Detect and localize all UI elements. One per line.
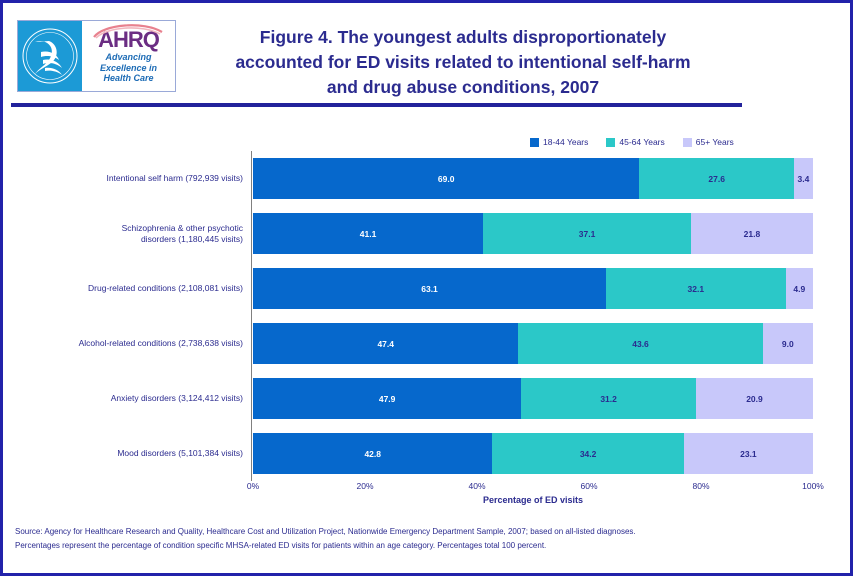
- figure-window: AHRQ Advancing Excellence in Health Care…: [0, 0, 853, 576]
- hhs-seal-panel: [18, 21, 82, 91]
- plot-area: Intentional self harm (792,939 visits)69…: [11, 151, 844, 481]
- bar-segment-1[interactable]: 47.4: [253, 323, 518, 364]
- x-axis-tick: 40%: [468, 481, 485, 491]
- bar-segment-2[interactable]: 31.2: [521, 378, 696, 419]
- chart-row: Alcohol-related conditions (2,738,638 vi…: [11, 316, 844, 371]
- legend-swatch-icon: [530, 138, 539, 147]
- bar-segment-1[interactable]: 47.9: [253, 378, 521, 419]
- x-axis-label: Percentage of ED visits: [253, 495, 813, 505]
- figure-title-line-3: and drug abuse conditions, 2007: [183, 75, 743, 100]
- chart-area: 18-44 Years45-64 Years65+ Years Intentio…: [11, 113, 844, 518]
- bar-segment-1[interactable]: 41.1: [253, 213, 483, 254]
- figure-title: Figure 4. The youngest adults disproport…: [183, 25, 743, 100]
- hhs-seal-icon: [21, 24, 79, 88]
- bar-segment-1[interactable]: 69.0: [253, 158, 639, 199]
- figure-title-line-2: accounted for ED visits related to inten…: [183, 50, 743, 75]
- bar-segment-3[interactable]: 23.1: [684, 433, 813, 474]
- legend-item-3[interactable]: 65+ Years: [683, 137, 734, 147]
- ahrq-tagline-line3: Health Care: [82, 73, 175, 84]
- legend-item-2[interactable]: 45-64 Years: [606, 137, 664, 147]
- legend-label: 18-44 Years: [543, 137, 588, 147]
- chart-row: Intentional self harm (792,939 visits)69…: [11, 151, 844, 206]
- bar-segment-3[interactable]: 21.8: [691, 213, 813, 254]
- ahrq-wordmark-panel: AHRQ Advancing Excellence in Health Care: [82, 21, 175, 91]
- figure-header: AHRQ Advancing Excellence in Health Care…: [3, 3, 850, 107]
- bar-segment-3[interactable]: 20.9: [696, 378, 813, 419]
- x-axis-tick: 60%: [580, 481, 597, 491]
- x-axis-tick: 20%: [356, 481, 373, 491]
- stacked-bar: 69.027.63.4: [253, 158, 813, 199]
- bar-segment-1[interactable]: 42.8: [253, 433, 492, 474]
- bar-segment-2[interactable]: 32.1: [606, 268, 786, 309]
- x-axis-tick: 0%: [247, 481, 259, 491]
- legend-item-1[interactable]: 18-44 Years: [530, 137, 588, 147]
- bar-segment-3[interactable]: 4.9: [786, 268, 813, 309]
- legend-label: 65+ Years: [696, 137, 734, 147]
- chart-row: Anxiety disorders (3,124,412 visits)47.9…: [11, 371, 844, 426]
- ahrq-logo: AHRQ Advancing Excellence in Health Care: [17, 20, 176, 92]
- chart-legend: 18-44 Years45-64 Years65+ Years: [530, 135, 734, 149]
- legend-swatch-icon: [606, 138, 615, 147]
- bar-segment-3[interactable]: 9.0: [763, 323, 813, 364]
- category-label: Drug-related conditions (2,108,081 visit…: [11, 261, 243, 316]
- ahrq-tagline-line2: Excellence in: [82, 63, 175, 74]
- category-label: Intentional self harm (792,939 visits): [11, 151, 243, 206]
- x-axis-ticks: 0%20%40%60%80%100%: [11, 481, 844, 495]
- header-divider: [11, 103, 742, 107]
- figure-footnote: Source: Agency for Healthcare Research a…: [15, 525, 835, 552]
- footnote-line-1: Source: Agency for Healthcare Research a…: [15, 525, 835, 539]
- stacked-bar: 41.137.121.8: [253, 213, 813, 254]
- category-label: Mood disorders (5,101,384 visits): [11, 426, 243, 481]
- chart-row: Drug-related conditions (2,108,081 visit…: [11, 261, 844, 316]
- bar-segment-3[interactable]: 3.4: [794, 158, 813, 199]
- bar-segment-2[interactable]: 37.1: [483, 213, 691, 254]
- ahrq-tagline-line1: Advancing: [82, 52, 175, 63]
- legend-swatch-icon: [683, 138, 692, 147]
- bar-segment-2[interactable]: 43.6: [518, 323, 762, 364]
- figure-title-line-1: Figure 4. The youngest adults disproport…: [183, 25, 743, 50]
- category-label: Alcohol-related conditions (2,738,638 vi…: [11, 316, 243, 371]
- stacked-bar: 42.834.223.1: [253, 433, 813, 474]
- x-axis-tick: 100%: [802, 481, 824, 491]
- stacked-bar: 63.132.14.9: [253, 268, 813, 309]
- chart-row: Mood disorders (5,101,384 visits)42.834.…: [11, 426, 844, 481]
- chart-row: Schizophrenia & other psychoticdisorders…: [11, 206, 844, 261]
- stacked-bar: 47.443.69.0: [253, 323, 813, 364]
- footnote-line-2: Percentages represent the percentage of …: [15, 539, 835, 553]
- legend-label: 45-64 Years: [619, 137, 664, 147]
- category-label: Schizophrenia & other psychoticdisorders…: [11, 206, 243, 261]
- stacked-bar: 47.931.220.9: [253, 378, 813, 419]
- x-axis-tick: 80%: [692, 481, 709, 491]
- bar-segment-2[interactable]: 27.6: [639, 158, 794, 199]
- bar-segment-1[interactable]: 63.1: [253, 268, 606, 309]
- bar-segment-2[interactable]: 34.2: [492, 433, 683, 474]
- ahrq-arc-icon: [92, 23, 168, 39]
- category-label: Anxiety disorders (3,124,412 visits): [11, 371, 243, 426]
